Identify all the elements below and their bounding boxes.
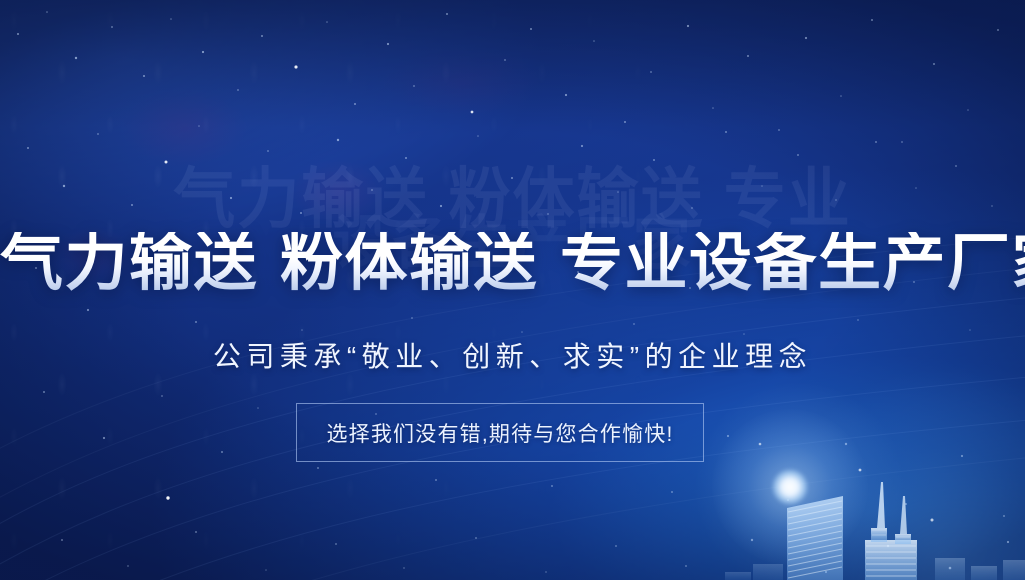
headline-part-2: 粉体输送 [280,228,538,298]
banner-subtitle: 公司秉承“敬业、创新、求实”的企业理念 [0,339,1025,374]
hero-banner: 气力输送 粉体输送 专业 设备生产厂家 气力输送粉体输送专业设备生产厂家 公司秉… [0,0,1025,580]
cta-label: 选择我们没有错,期待与您合作愉快! [326,418,673,448]
cta-box[interactable]: 选择我们没有错,期待与您合作愉快! [296,403,704,462]
banner-content: 气力输送粉体输送专业设备生产厂家 公司秉承“敬业、创新、求实”的企业理念 选择我… [0,0,1025,580]
headline-part-1: 气力输送 [0,228,258,298]
headline-part-3: 专业设备生产厂家 [560,228,1025,298]
banner-headline: 气力输送粉体输送专业设备生产厂家 [0,232,1025,295]
